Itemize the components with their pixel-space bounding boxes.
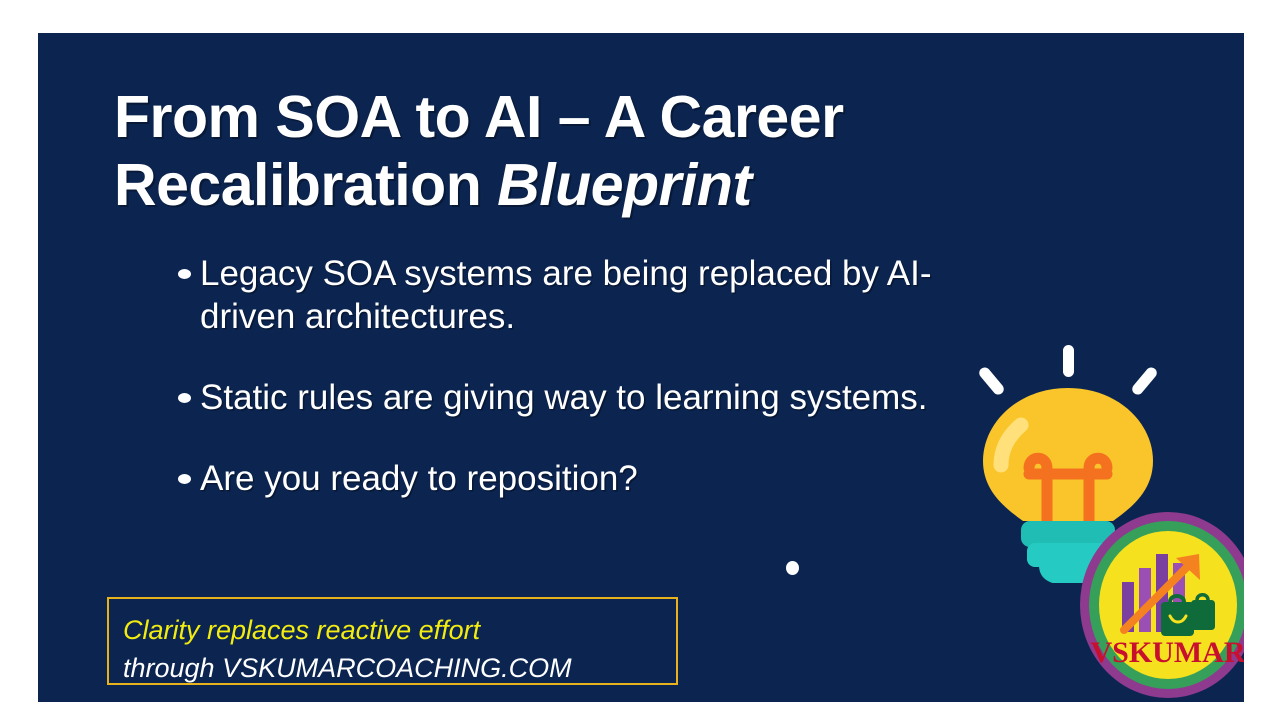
bullet-dot-icon [178, 393, 191, 403]
title-line-2-normal: Recalibration [114, 152, 497, 218]
bullet-text: Legacy SOA systems are being replaced by… [200, 252, 938, 338]
bullet-text: Are you ready to reposition? [200, 457, 938, 500]
slide-title: From SOA to AI – A Career Recalibration … [114, 83, 1214, 219]
title-emphasis-blueprint: Blueprint [497, 152, 751, 218]
bullet-text: Static rules are giving way to learning … [200, 376, 938, 419]
title-line-1: From SOA to AI – A Career [114, 83, 1214, 151]
bullet-list: Legacy SOA systems are being replaced by… [138, 252, 938, 538]
list-item: Legacy SOA systems are being replaced by… [138, 252, 938, 338]
list-item: Static rules are giving way to learning … [138, 376, 938, 419]
slide-root: From SOA to AI – A Career Recalibration … [0, 0, 1280, 720]
caption-line-2: through VSKUMARCOACHING.COM [123, 649, 676, 687]
slide-panel: From SOA to AI – A Career Recalibration … [38, 33, 1244, 702]
caption-box: Clarity replaces reactive effort through… [107, 597, 678, 685]
stray-dot-artifact [786, 561, 799, 575]
caption-line-1: Clarity replaces reactive effort [123, 611, 676, 649]
bullet-dot-icon [178, 474, 191, 484]
logo-wordmark: VSKUMAR [1091, 636, 1245, 669]
list-item: Are you ready to reposition? [138, 457, 938, 500]
bullet-dot-icon [178, 269, 191, 279]
title-line-2: Recalibration Blueprint [114, 151, 1214, 219]
vskumar-logo: VSKUMAR [1078, 510, 1244, 700]
